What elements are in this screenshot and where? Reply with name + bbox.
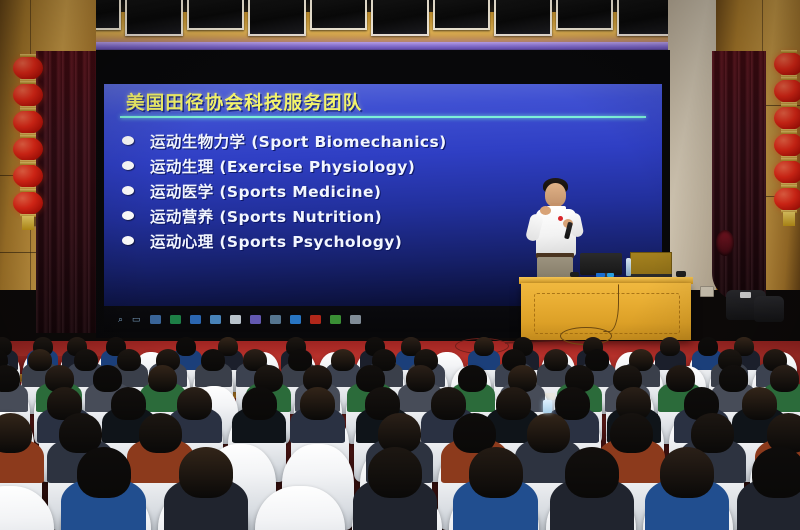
bullet-dot-icon (122, 136, 134, 145)
auditorium-photograph: 美国田径协会科技服务团队 运动生物力学 (Sport Biomechanics)… (0, 0, 800, 530)
red-chinese-lantern (13, 56, 43, 80)
bullet-dot-icon (122, 161, 134, 170)
audience-member-head (458, 365, 487, 392)
title-underline (120, 116, 646, 118)
monitor (580, 253, 622, 275)
bullet-dot-icon (122, 236, 134, 245)
app-violet-icon[interactable] (250, 315, 261, 324)
presenter-trousers (537, 257, 573, 279)
audience-member-head (176, 337, 196, 356)
audience-member-head (660, 447, 714, 497)
file-explorer-icon[interactable] (150, 315, 161, 324)
audience-member-head (406, 365, 435, 392)
audience-member-head (698, 337, 718, 356)
bullet-dot-icon (122, 211, 134, 220)
app-red-icon[interactable] (310, 315, 321, 324)
audience-member-head (300, 387, 335, 419)
ceiling-light-panel (617, 0, 675, 36)
lantern-tassel (783, 212, 795, 226)
audience-member-head (610, 413, 653, 453)
ceiling-light-panel (248, 0, 306, 36)
app-blue-icon[interactable] (190, 315, 201, 324)
audience-member-head (93, 365, 122, 392)
app-green-icon[interactable] (170, 315, 181, 324)
red-chinese-lantern (774, 187, 800, 211)
slide-bullet-item: 运动医学 (Sports Medicine) (122, 178, 447, 203)
slide-title: 美国田径协会科技服务团队 (126, 89, 362, 115)
audience-member-head (752, 447, 800, 497)
audience-member-head (565, 447, 619, 497)
audience-member-head (469, 447, 523, 497)
app-steel-icon[interactable] (270, 315, 281, 324)
audience-member-head (74, 349, 98, 371)
app-lightblue-icon[interactable] (210, 315, 221, 324)
app-lime-icon[interactable] (330, 315, 341, 324)
lantern-tassel (22, 216, 34, 230)
slide-bullet-text: 运动医学 (Sports Medicine) (150, 180, 381, 202)
bullet-dot-icon (122, 186, 134, 195)
audience-member-head (474, 337, 494, 356)
ceiling-light-panel (310, 0, 368, 30)
audience-member-head (544, 349, 568, 371)
shirt-logo (558, 216, 563, 221)
slide-bullet-text: 运动生物力学 (Sport Biomechanics) (150, 130, 447, 152)
ceiling-light-panel (371, 0, 429, 36)
audience-phone-screen (543, 400, 552, 413)
audience-member-head (201, 349, 225, 371)
audience-member-head (117, 349, 141, 371)
audience-member-head (139, 413, 182, 453)
red-chinese-lantern (774, 133, 800, 157)
stage-curtain-left (36, 51, 98, 333)
audience-member-head (742, 387, 777, 419)
slide-bullet-item: 运动生理 (Exercise Physiology) (122, 153, 447, 178)
slide-bullet-text: 运动心理 (Sports Psychology) (150, 230, 402, 252)
ceiling-light-panel (187, 0, 245, 30)
red-chinese-lantern (774, 106, 800, 130)
red-chinese-lantern (774, 160, 800, 184)
search-icon[interactable]: ⌕ (118, 315, 123, 324)
ceiling-light-panel (556, 0, 614, 30)
audience-member-head (660, 337, 680, 356)
app-azure-icon[interactable] (290, 315, 301, 324)
water-bottle[interactable] (626, 258, 631, 276)
presenter-hand-pointing (540, 206, 551, 215)
audience-member-head (555, 387, 590, 419)
slide-bullet-text: 运动营养 (Sports Nutrition) (150, 205, 382, 227)
app-gray-icon[interactable] (350, 315, 361, 324)
red-chinese-lantern (13, 110, 43, 134)
audience-member-head (496, 387, 531, 419)
wall-panel-beige-right (668, 0, 716, 290)
stage-curtain-right (712, 51, 766, 301)
audience-member-head (177, 387, 212, 419)
slide-bullet-list: 运动生物力学 (Sport Biomechanics)运动生理 (Exercis… (122, 128, 447, 253)
curtain-tieback (716, 230, 734, 256)
red-chinese-lantern (13, 191, 43, 215)
audience-member-head (691, 413, 734, 453)
red-chinese-lantern (774, 52, 800, 76)
audience-member-head (431, 387, 466, 419)
audience-member-head (770, 365, 799, 392)
app-white-icon[interactable] (230, 315, 241, 324)
red-chinese-lantern (13, 164, 43, 188)
ceiling-light-panel (433, 0, 491, 30)
audience-member-head (719, 365, 748, 392)
slide-bullet-item: 运动生物力学 (Sport Biomechanics) (122, 128, 447, 153)
audience-member-head (666, 365, 695, 392)
audience-member-head (77, 447, 131, 497)
audience-member-head (148, 365, 177, 392)
bag-tag (740, 292, 751, 298)
audience-member-head (111, 387, 146, 419)
red-chinese-lantern (774, 79, 800, 103)
ceiling-light-panel (494, 0, 552, 36)
audience-member-head (527, 413, 570, 453)
audience-member-head (242, 387, 277, 419)
red-chinese-lantern (13, 137, 43, 161)
audience-member-head (368, 447, 422, 497)
audience-member-head (179, 447, 233, 497)
audience-member-head (331, 349, 355, 371)
red-chinese-lantern (13, 83, 43, 107)
equipment-bag[interactable] (754, 296, 784, 322)
task-view-icon[interactable]: ▭ (132, 315, 141, 324)
slide-bullet-item: 运动营养 (Sports Nutrition) (122, 203, 447, 228)
ceiling-light-panel (125, 0, 183, 36)
wall-outlet[interactable] (700, 286, 714, 297)
slide-bullet-item: 运动心理 (Sports Psychology) (122, 228, 447, 253)
slide-bullet-text: 运动生理 (Exercise Physiology) (150, 155, 415, 177)
